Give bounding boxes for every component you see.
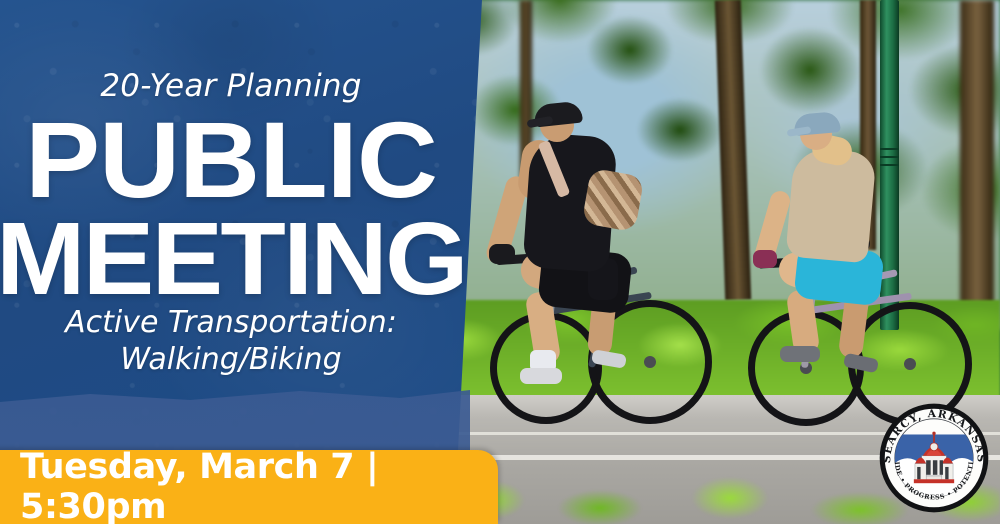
subtitle-line1: Active Transportation: (0, 305, 462, 342)
lamp-post-band (880, 156, 899, 158)
page-title-line1: PUBLIC (0, 110, 471, 209)
cyclist-right-shoe (780, 346, 820, 362)
lamp-post-band (880, 164, 899, 166)
subtitle-line2: Walking/Biking (0, 342, 462, 379)
bicycle-hub (904, 358, 916, 370)
searcy-arkansas-city-seal: SEARCY, ARKANSAS PRIDE • PROGRESS • POTE… (878, 402, 990, 514)
subtitle: Active Transportation: Walking/Biking (0, 305, 462, 378)
public-meeting-poster: 20-Year Planning PUBLIC MEETING Active T… (0, 0, 1000, 524)
date-time-text: Tuesday, March 7 | 5:30pm (20, 450, 482, 524)
cyclist-right-glove (753, 250, 777, 268)
cyclist-left-glove (489, 244, 515, 264)
cyclist-left-shoe (520, 368, 562, 384)
cyclist-left-hip-pack (582, 168, 645, 233)
page-title-line2: MEETING (0, 212, 471, 307)
lamp-post-band (880, 148, 899, 150)
tree-canopy (430, 0, 1000, 340)
city-seal-icon: SEARCY, ARKANSAS PRIDE • PROGRESS • POTE… (878, 402, 990, 514)
bicycle-hub (644, 356, 656, 368)
